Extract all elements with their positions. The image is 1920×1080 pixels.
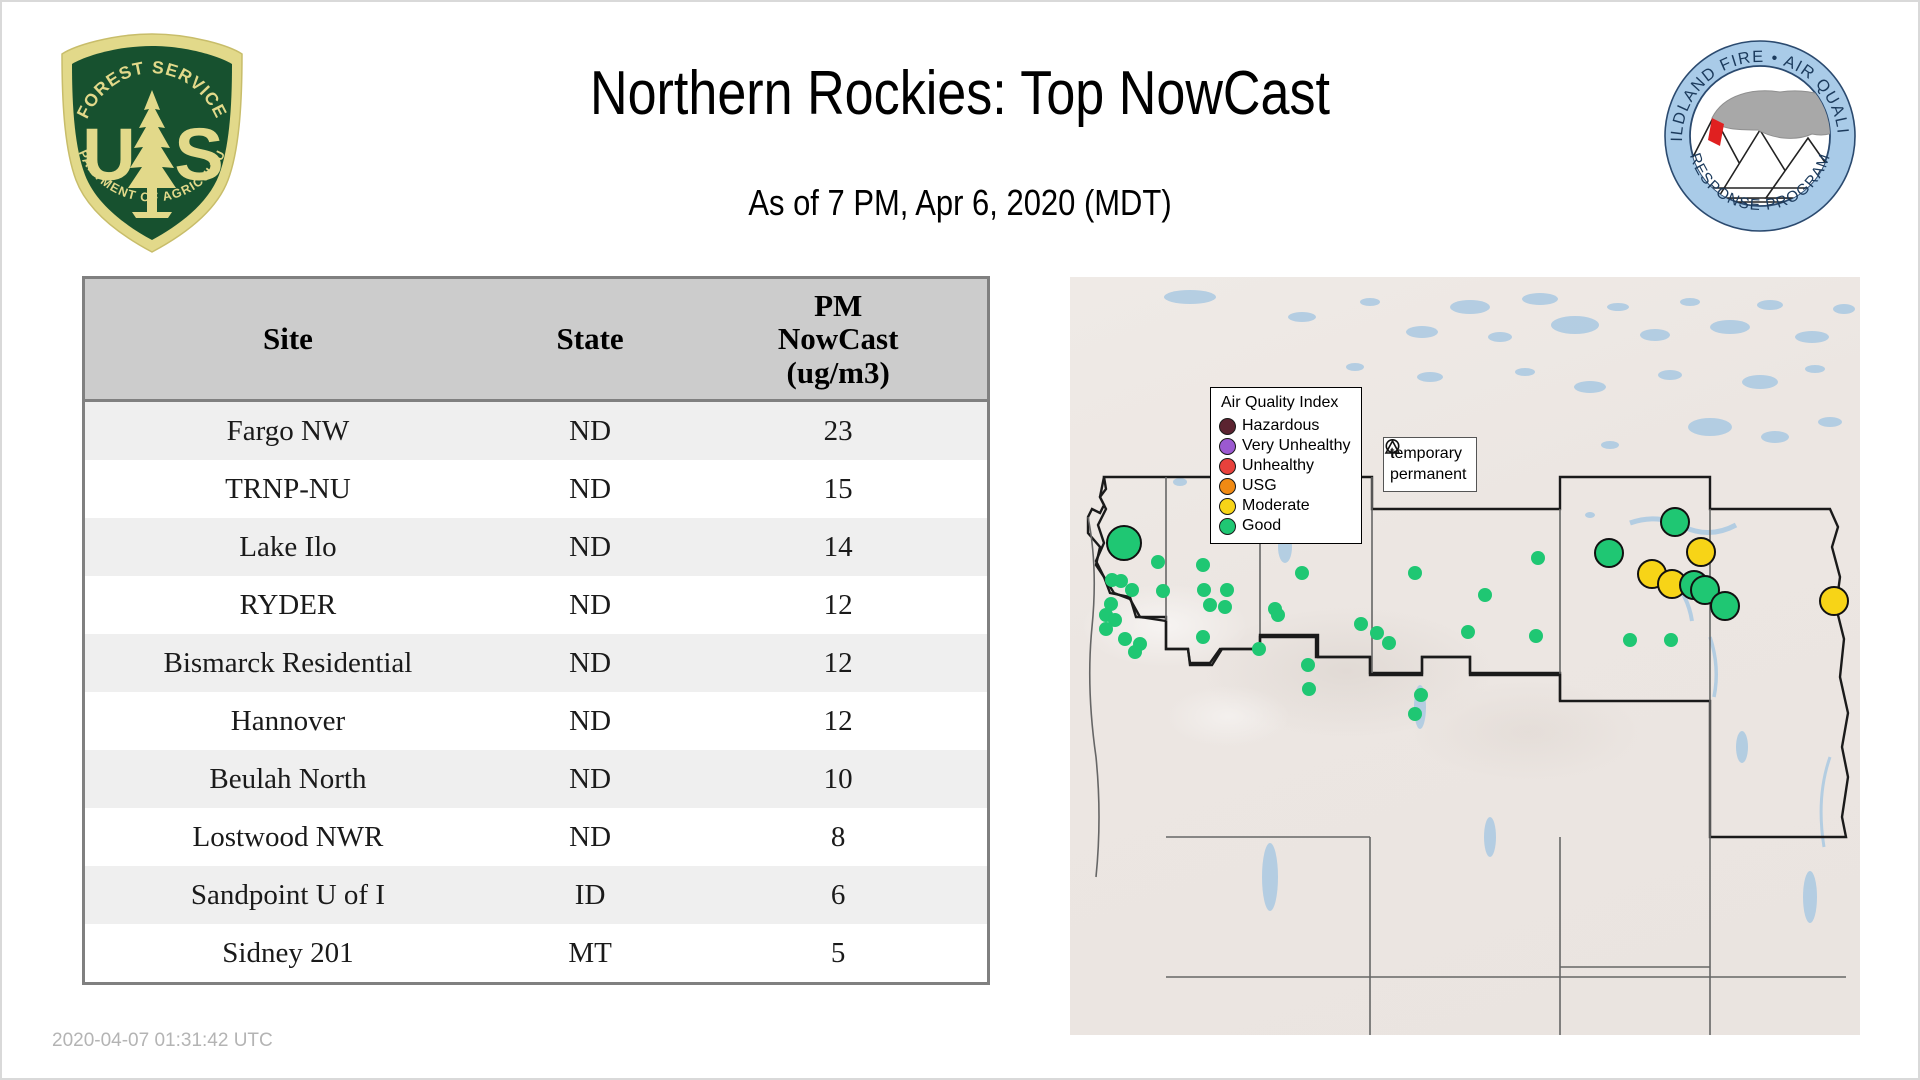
monitor-dot[interactable] xyxy=(1218,600,1232,614)
pm-header-line-1: PM xyxy=(693,289,983,322)
monitor-dot[interactable] xyxy=(1203,598,1217,612)
pm-value-cell: 12 xyxy=(689,692,987,750)
column-header-site[interactable]: Site xyxy=(85,279,491,401)
monitor-dot[interactable] xyxy=(1220,583,1234,597)
monitor-dot[interactable] xyxy=(1408,707,1422,721)
monitor-dot[interactable] xyxy=(1414,688,1428,702)
table-row[interactable]: Sandpoint U of IID6 xyxy=(85,866,987,924)
table-row[interactable]: RYDERND12 xyxy=(85,576,987,634)
table-header: Site State PM NowCast (ug/m3) xyxy=(85,279,987,401)
page-title: Northern Rockies: Top NowCast xyxy=(406,58,1515,129)
monitor-dot[interactable] xyxy=(1660,507,1690,537)
monitor-dot[interactable] xyxy=(1151,555,1165,569)
site-cell: RYDER xyxy=(85,576,491,634)
aqi-legend-items: HazardousVery UnhealthyUnhealthyUSGModer… xyxy=(1219,416,1351,536)
pm-value-cell: 23 xyxy=(689,401,987,461)
state-cell: MT xyxy=(491,924,689,982)
permanent-triangle-icon xyxy=(1384,438,1401,455)
page-subtitle: As of 7 PM, Apr 6, 2020 (MDT) xyxy=(392,182,1527,224)
aqi-swatch-icon xyxy=(1219,438,1236,455)
monitor-dot[interactable] xyxy=(1302,682,1316,696)
pm-header-line-3: (ug/m3) xyxy=(693,356,983,389)
monitor-dot[interactable] xyxy=(1118,632,1132,646)
state-cell: ID xyxy=(491,866,689,924)
monitor-dot[interactable] xyxy=(1196,558,1210,572)
monitor-dot[interactable] xyxy=(1301,658,1315,672)
map-water-layer xyxy=(1070,277,1860,1035)
aqi-legend-label: Moderate xyxy=(1242,498,1310,514)
pm-value-cell: 8 xyxy=(689,808,987,866)
site-cell: Fargo NW xyxy=(85,401,491,461)
column-header-pm-nowcast[interactable]: PM NowCast (ug/m3) xyxy=(689,279,987,401)
aqi-legend-label: USG xyxy=(1242,478,1277,494)
usfs-letter-u: U xyxy=(82,113,135,196)
table-row[interactable]: Lake IloND14 xyxy=(85,518,987,576)
aqi-swatch-icon xyxy=(1219,478,1236,495)
monitor-dot[interactable] xyxy=(1664,633,1678,647)
monitor-dot[interactable] xyxy=(1370,626,1384,640)
monitor-dot[interactable] xyxy=(1529,629,1543,643)
usfs-forest-service-logo-icon: FOREST SERVICE DEPARTMENT OF AGRICULTURE… xyxy=(52,28,252,258)
monitor-dot[interactable] xyxy=(1478,588,1492,602)
monitor-dot[interactable] xyxy=(1461,625,1475,639)
monitor-dot[interactable] xyxy=(1531,551,1545,565)
state-cell: ND xyxy=(491,576,689,634)
column-header-state[interactable]: State xyxy=(491,279,689,401)
state-cell: ND xyxy=(491,808,689,866)
aqi-legend-title: Air Quality Index xyxy=(1221,394,1351,412)
aqi-legend-label: Unhealthy xyxy=(1242,458,1314,474)
aqi-legend-item: Hazardous xyxy=(1219,416,1351,436)
aqi-swatch-icon xyxy=(1219,418,1236,435)
site-cell: Bismarck Residential xyxy=(85,634,491,692)
pm-value-cell: 15 xyxy=(689,460,987,518)
monitor-type-legend: temporary permanent xyxy=(1383,437,1477,492)
pm-value-cell: 12 xyxy=(689,634,987,692)
monitor-dot[interactable] xyxy=(1382,636,1396,650)
monitor-dot[interactable] xyxy=(1594,538,1624,568)
aqi-legend: Air Quality Index HazardousVery Unhealth… xyxy=(1210,387,1362,544)
table-row[interactable]: Lostwood NWRND8 xyxy=(85,808,987,866)
monitor-dot[interactable] xyxy=(1295,566,1309,580)
nowcast-table-container: Site State PM NowCast (ug/m3) Fargo NWND… xyxy=(82,276,990,985)
site-cell: Lake Ilo xyxy=(85,518,491,576)
pm-value-cell: 10 xyxy=(689,750,987,808)
site-cell: Sidney 201 xyxy=(85,924,491,982)
aqi-legend-item: Very Unhealthy xyxy=(1219,436,1351,456)
wfaqrp-logo-icon: WILDLAND FIRE • AIR QUALITY RESPONSE PRO… xyxy=(1662,38,1858,234)
table-body: Fargo NWND23TRNP-NUND15Lake IloND14RYDER… xyxy=(85,401,987,983)
monitor-dot[interactable] xyxy=(1819,586,1849,616)
monitor-dot[interactable] xyxy=(1623,633,1637,647)
pm-value-cell: 14 xyxy=(689,518,987,576)
table-header-row: Site State PM NowCast (ug/m3) xyxy=(85,279,987,401)
monitor-dot[interactable] xyxy=(1114,574,1128,588)
aqi-swatch-icon xyxy=(1219,518,1236,535)
pm-value-cell: 5 xyxy=(689,924,987,982)
aqi-legend-label: Hazardous xyxy=(1242,418,1319,434)
table-row[interactable]: Fargo NWND23 xyxy=(85,401,987,461)
generation-timestamp: 2020-04-07 01:31:42 UTC xyxy=(52,1030,273,1052)
table-row[interactable]: Sidney 201MT5 xyxy=(85,924,987,982)
monitor-dot[interactable] xyxy=(1354,617,1368,631)
nowcast-table: Site State PM NowCast (ug/m3) Fargo NWND… xyxy=(85,279,987,982)
table-row[interactable]: HannoverND12 xyxy=(85,692,987,750)
monitor-dot[interactable] xyxy=(1099,622,1113,636)
site-cell: Hannover xyxy=(85,692,491,750)
aqi-legend-item: USG xyxy=(1219,476,1351,496)
aqi-swatch-icon xyxy=(1219,498,1236,515)
aqi-swatch-icon xyxy=(1219,458,1236,475)
monitor-dot[interactable] xyxy=(1686,537,1716,567)
monitor-dot[interactable] xyxy=(1252,642,1266,656)
table-row[interactable]: Beulah NorthND10 xyxy=(85,750,987,808)
legend-row-permanent: permanent xyxy=(1390,464,1467,485)
state-cell: ND xyxy=(491,634,689,692)
state-cell: ND xyxy=(491,750,689,808)
monitor-dot[interactable] xyxy=(1128,645,1142,659)
state-cell: ND xyxy=(491,692,689,750)
site-cell: Beulah North xyxy=(85,750,491,808)
monitor-dot[interactable] xyxy=(1271,608,1285,622)
monitor-dot[interactable] xyxy=(1197,583,1211,597)
table-row[interactable]: Bismarck ResidentialND12 xyxy=(85,634,987,692)
monitor-dot[interactable] xyxy=(1125,583,1139,597)
state-cell: ND xyxy=(491,460,689,518)
pm-value-cell: 6 xyxy=(689,866,987,924)
legend-row-temporary: temporary xyxy=(1390,443,1467,464)
permanent-label: permanent xyxy=(1390,467,1467,483)
site-cell: Lostwood NWR xyxy=(85,808,491,866)
site-cell: Sandpoint U of I xyxy=(85,866,491,924)
site-cell: TRNP-NU xyxy=(85,460,491,518)
table-row[interactable]: TRNP-NUND15 xyxy=(85,460,987,518)
aqi-legend-item: Unhealthy xyxy=(1219,456,1351,476)
aqi-legend-item: Good xyxy=(1219,516,1351,536)
monitor-dot[interactable] xyxy=(1408,566,1422,580)
usfs-letter-s: S xyxy=(174,113,223,196)
state-cell: ND xyxy=(491,401,689,461)
pm-value-cell: 12 xyxy=(689,576,987,634)
air-quality-map[interactable]: Air Quality Index HazardousVery Unhealth… xyxy=(1070,277,1860,1035)
monitor-dot[interactable] xyxy=(1106,525,1142,561)
monitor-dot[interactable] xyxy=(1196,630,1210,644)
monitor-dot[interactable] xyxy=(1156,584,1170,598)
pm-header-line-2: NowCast xyxy=(693,322,983,355)
aqi-legend-label: Very Unhealthy xyxy=(1242,438,1351,454)
aqi-legend-label: Good xyxy=(1242,518,1281,534)
aqi-legend-item: Moderate xyxy=(1219,496,1351,516)
monitor-dot[interactable] xyxy=(1710,591,1740,621)
state-cell: ND xyxy=(491,518,689,576)
page-header: FOREST SERVICE DEPARTMENT OF AGRICULTURE… xyxy=(0,0,1920,270)
